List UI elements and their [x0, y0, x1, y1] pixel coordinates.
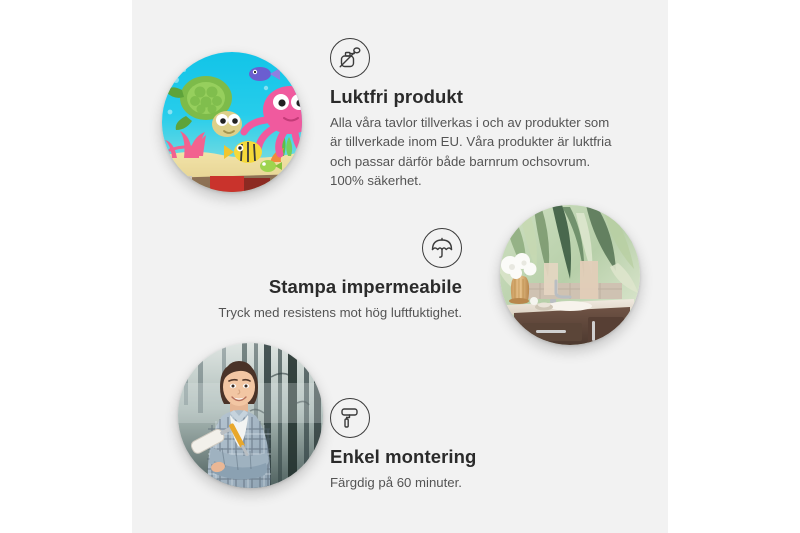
feature-title: Stampa impermeabile [200, 276, 462, 298]
feature-title: Enkel montering [330, 446, 592, 468]
feature-block-easy-assembly: Enkel montering Färgdig på 60 minuter. [330, 398, 592, 492]
feature-body: Tryck med resistens mot hög luftfuktighe… [200, 303, 462, 322]
icon-row [330, 398, 592, 438]
icon-row [200, 228, 462, 268]
feature-block-odorless: Luktfri produkt Alla våra tavlor tillver… [330, 38, 622, 190]
underwater-kids-scene-photo [162, 52, 302, 192]
no-fragrance-icon [330, 38, 370, 78]
woman-paint-roller-forest-photo [178, 343, 323, 488]
feature-title: Luktfri produkt [330, 86, 622, 108]
product-features-page: Luktfri produkt Alla våra tavlor tillver… [0, 0, 800, 533]
bathroom-tropical-wallpaper-photo [500, 205, 640, 345]
umbrella-icon [422, 228, 462, 268]
feature-block-waterproof: Stampa impermeabile Tryck med resistens … [200, 228, 462, 322]
paint-roller-icon [330, 398, 370, 438]
feature-body: Färgdig på 60 minuter. [330, 473, 592, 492]
icon-row [330, 38, 622, 78]
feature-body: Alla våra tavlor tillverkas i och av pro… [330, 113, 622, 190]
